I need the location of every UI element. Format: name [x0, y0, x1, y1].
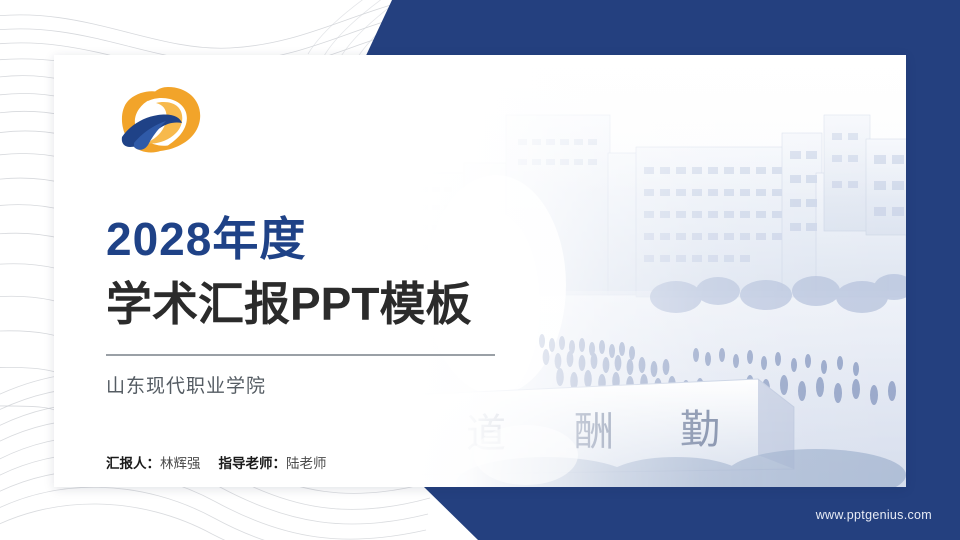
cover-content: 2028年度 学术汇报PPT模板 山东现代职业学院 汇报人：林辉强指导老师：陆老… [100, 55, 530, 487]
presenter-meta: 汇报人：林辉强指导老师：陆老师 [106, 452, 327, 472]
title-main: 学术汇报PPT模板 [106, 281, 471, 327]
cover-card: 道 酬 勤 [54, 55, 906, 487]
presenter-name: 林辉强 [160, 456, 201, 471]
school-name: 山东现代职业学院 [106, 371, 266, 398]
slide-canvas: 道 酬 勤 [0, 0, 960, 540]
title-year: 2028年度 [106, 216, 306, 262]
advisor-label: 指导老师： [219, 456, 287, 471]
site-url[interactable]: www.pptgenius.com [816, 508, 932, 522]
advisor-name: 陆老师 [286, 456, 327, 471]
school-logo-icon [106, 77, 210, 167]
presenter-label: 汇报人： [106, 456, 160, 471]
title-divider [106, 354, 495, 356]
